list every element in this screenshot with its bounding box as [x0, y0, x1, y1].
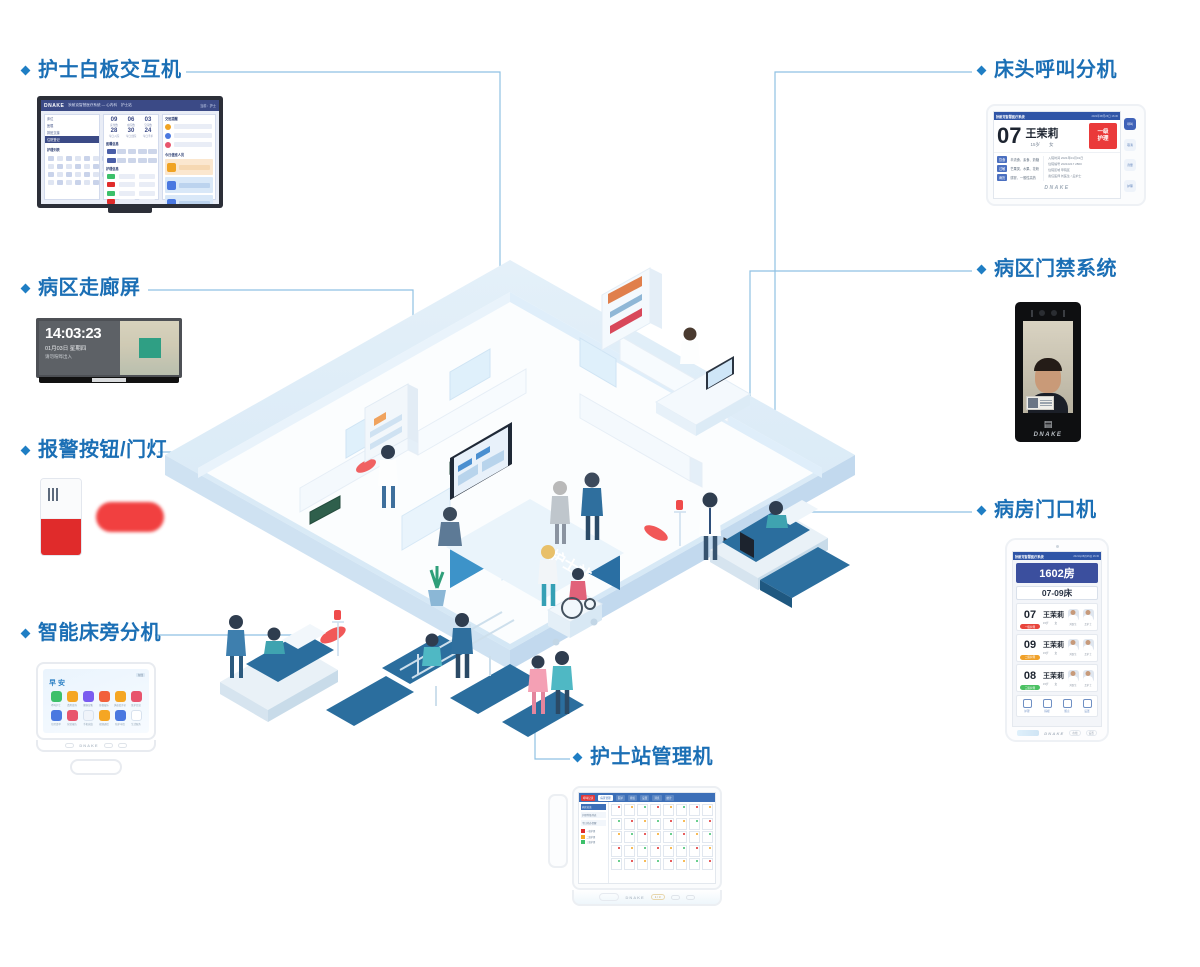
- nsm-tab[interactable]: 统计: [665, 795, 674, 801]
- patient-bed: 09: [1024, 639, 1036, 651]
- bedside-app-label: 化验报告: [65, 722, 79, 726]
- nsm-tab-selected[interactable]: 病区管理: [598, 795, 612, 801]
- bedhead-screen[interactable]: 狄耐克智慧医疗系统 2021年08月26日 16:30 07 王茉莉 15岁 女…: [993, 111, 1121, 199]
- nsm-bed-cell[interactable]: [676, 804, 687, 816]
- monitor-stand: [108, 208, 152, 213]
- corridor-video-feed: [120, 321, 179, 375]
- nsm-bed-cell[interactable]: [624, 804, 635, 816]
- bedhead-tag: 过敏芒果类、水果、花粉: [997, 165, 1039, 172]
- patient-row[interactable]: 07 一级护理 王茉莉 15岁 女 刘医生 孟护士: [1016, 603, 1098, 631]
- bullet-diamond-icon: [977, 505, 987, 515]
- legend-label: 三级护理: [587, 840, 596, 844]
- whiteboard-subtitle: 护士站: [121, 103, 132, 108]
- bedside-app-label: 健康宣教: [81, 703, 95, 707]
- bedhead-side-button[interactable]: 护理: [1124, 180, 1136, 192]
- callout-alarm-button-door-light: 报警按钮/门灯: [22, 440, 167, 460]
- bullet-diamond-icon: [573, 752, 583, 762]
- panel-title: 交班提醒: [163, 115, 215, 122]
- patient-care-tag: 一级护理: [1020, 624, 1040, 629]
- stat-label: 今日入院: [106, 134, 122, 138]
- access-terminal[interactable]: ▤ DNAKE: [1015, 302, 1081, 442]
- nsm-bed-cell[interactable]: [689, 845, 700, 857]
- bedhead-tag: 饮食半流食、素食、奶糖: [997, 156, 1039, 163]
- corridor-notice: 请勿喧哗出入: [45, 354, 114, 360]
- staff-avatars: 刘医生 孟护士: [1067, 609, 1094, 626]
- callout-label: 智能床旁分机: [38, 623, 161, 643]
- stat-label: 今日出院: [123, 134, 139, 138]
- id-card-thumbnail: [1026, 396, 1054, 410]
- doctor-name: 刘医生: [1067, 622, 1079, 626]
- bedside-app-label: 呼叫护士: [49, 703, 63, 707]
- bedhead-header: 狄耐克智慧医疗系统 2021年08月26日 16:30: [994, 112, 1120, 120]
- brand-label: DNAKE: [994, 185, 1120, 191]
- bedside-app-label: 医护信息: [129, 703, 143, 707]
- nsm-bed-cell[interactable]: [689, 818, 700, 830]
- header-title: 狄耐克智慧医疗系统: [1015, 554, 1044, 559]
- bedside-app[interactable]: 陪护申请: [113, 710, 127, 726]
- isometric-hospital-ward-illustration: 护士站: [150, 250, 870, 810]
- bedside-app[interactable]: 满意度评价: [113, 691, 127, 707]
- nsm-bed-cell[interactable]: [637, 818, 648, 830]
- door-machine-unit: 狄耐克智慧医疗系统 2021年08月26日 16:30 1602房 07-09床…: [1005, 538, 1109, 742]
- header-time: 2021年08月26日 16:30: [1073, 554, 1099, 558]
- nsm-bed-cell[interactable]: [676, 831, 687, 843]
- message-icon: [1063, 699, 1072, 708]
- callout-smart-bedside-extension: 智能床旁分机: [22, 623, 161, 643]
- whiteboard-stats-panel: 09床位数 06在院数 03空床数 28今日入院 30今日出院 24今日手术 医…: [103, 114, 159, 200]
- bedhead-tag: 病历感冒、一般性高热: [997, 174, 1039, 181]
- nsm-tab[interactable]: 医护: [616, 795, 625, 801]
- panel-title: 医嘱信息: [104, 140, 158, 147]
- bedhead-patient-meta: 15岁 女: [1025, 142, 1058, 148]
- nsm-bed-cell[interactable]: [624, 845, 635, 857]
- room-number: 1602房: [1016, 563, 1098, 583]
- bedside-app-label: 住院清单: [49, 722, 63, 726]
- door-machine-screen[interactable]: 狄耐克智慧医疗系统 2021年08月26日 16:30 1602房 07-09床…: [1012, 551, 1102, 727]
- bedside-app-label: 影视娱乐: [97, 703, 111, 707]
- nsm-bed-cell[interactable]: [650, 845, 661, 857]
- footer-chip[interactable]: 在线: [1069, 730, 1080, 736]
- patient-care-tag: 三级护理: [1020, 685, 1040, 690]
- doctor-name: 刘医生: [1067, 652, 1079, 656]
- whiteboard-right-panel: 交班提醒 今日值班人员: [162, 114, 216, 200]
- nsm-bed-cell[interactable]: [676, 845, 687, 857]
- nsm-bed-cell[interactable]: [702, 804, 713, 816]
- bedside-button[interactable]: [65, 743, 74, 748]
- infographic-canvas: 护士站: [0, 0, 1200, 967]
- bullet-diamond-icon: [21, 445, 31, 455]
- nsm-main: 病房总览 护理等级列表 今日待办提醒 一级护理 二级护理 三级护理: [579, 802, 715, 883]
- patient-bed: 07: [1024, 609, 1036, 621]
- nsm-bed-cell[interactable]: [611, 804, 622, 816]
- whiteboard-monitor-bezel: DNAKE 狄耐克智慧医疗系统 — 心内科 护士站 当前：护士 床位 医嘱 排班…: [37, 96, 223, 208]
- device-nurse-station-manager[interactable]: 呼叫记录 病区管理 医护 排班 设置 消息 统计 病房总览 护理等级列表 今日待…: [572, 786, 722, 906]
- nsm-bed-cell[interactable]: [611, 858, 622, 870]
- bedhead-admission-info: 入院时间 2021年01月01日 住院编号 20210217 2860 住院区域…: [1043, 156, 1083, 181]
- nsm-tab[interactable]: 消息: [652, 795, 661, 801]
- bedhead-side-button[interactable]: 取消: [1124, 139, 1136, 151]
- patient-meta: 15岁 女: [1043, 621, 1064, 625]
- device-smart-bedside-extension[interactable]: 在线 早 安 呼叫护士 费用查询 健康宣教 影视娱乐 满意度评价 医护信息 住院…: [36, 662, 156, 775]
- nsm-bed-cell[interactable]: [663, 831, 674, 843]
- bedside-button[interactable]: [104, 743, 113, 748]
- patient-meta: 15岁 女: [1043, 651, 1064, 655]
- patient-row[interactable]: 08 三级护理 王茉莉 15岁 女 刘医生 孟护士: [1016, 664, 1098, 692]
- patient-age: 15岁: [1043, 651, 1048, 655]
- nsm-tabbar[interactable]: 呼叫记录 病区管理 医护 排班 设置 消息 统计: [579, 793, 715, 802]
- bedside-app[interactable]: 视频通话: [97, 710, 111, 726]
- callout-room-door-machine: 病房门口机: [978, 500, 1097, 520]
- whiteboard-mini-grid: [45, 153, 99, 188]
- bedside-app[interactable]: 手机充值: [81, 710, 95, 726]
- door-machine-toolbar[interactable]: 护理 探视 留言 设置: [1016, 695, 1098, 717]
- bedside-button[interactable]: [118, 743, 127, 748]
- nsm-bed-cell[interactable]: [624, 818, 635, 830]
- door-light-indicator: [96, 502, 164, 532]
- device-ward-access-control[interactable]: ▤ DNAKE: [1015, 302, 1081, 442]
- speaker-grille-icon: [48, 488, 58, 501]
- whiteboard-body: 床位 医嘱 排班交接 住院登记 护理列表: [41, 111, 219, 203]
- bedhead-header-title: 狄耐克智慧医疗系统: [996, 114, 1025, 119]
- nsm-bed-cell[interactable]: [650, 804, 661, 816]
- patient-row[interactable]: 09 二级护理 王茉莉 15岁 女 刘医生 孟护士: [1016, 634, 1098, 662]
- nsm-wrap: 呼叫记录 病区管理 医护 排班 设置 消息 统计 病房总览 护理等级列表 今日待…: [572, 786, 722, 906]
- nsm-side-item[interactable]: 病房总览: [581, 804, 606, 810]
- nsm-keypad-icon[interactable]: [599, 893, 619, 901]
- tag-value: 半流食、素食、奶糖: [1010, 157, 1039, 162]
- alarm-reset-area[interactable]: [41, 479, 81, 519]
- nsm-side-item[interactable]: 今日待办提醒: [581, 820, 606, 826]
- nsm-bed-cell[interactable]: [676, 858, 687, 870]
- nsm-bed-cell[interactable]: [663, 858, 674, 870]
- bedhead-patient-summary: 07 王茉莉 15岁 女 一级护理: [994, 120, 1120, 153]
- callout-nurse-station-manager: 护士站管理机: [574, 747, 713, 767]
- nsm-bed-cell[interactable]: [637, 858, 648, 870]
- staff-avatars: 刘医生 孟护士: [1067, 639, 1094, 656]
- bedhead-side-button[interactable]: 呼叫: [1124, 118, 1136, 130]
- patient-gender: 女: [1054, 621, 1057, 625]
- info-line: 住院区域 甲院区: [1048, 168, 1083, 172]
- toolbar-label: 探视: [1037, 709, 1057, 713]
- corridor-hallway-graphic: [139, 338, 161, 358]
- nsm-bed-cell[interactable]: [689, 804, 700, 816]
- nsm-bed-cell[interactable]: [637, 845, 648, 857]
- patient-meta: 15岁 女: [1043, 682, 1064, 686]
- tag-key: 饮食: [997, 156, 1007, 163]
- nsm-bed-cell[interactable]: [611, 818, 622, 830]
- stat-label: 在院数: [123, 123, 139, 127]
- nsm-page-label: 1 / 3: [651, 894, 665, 900]
- whiteboard-title: 狄耐克智慧医疗系统 — 心内科: [68, 103, 117, 108]
- bedhead-side-button[interactable]: 音量: [1124, 159, 1136, 171]
- patient-name: 王茉莉: [1043, 610, 1064, 620]
- info-line: 住院编号 20210217 2860: [1048, 162, 1083, 166]
- avatar-nurse: 孟护士: [1082, 639, 1094, 656]
- whiteboard-sidebar[interactable]: 床位 医嘱 排班交接 住院登记 护理列表: [44, 114, 100, 200]
- device-bedhead-call-extension[interactable]: 狄耐克智慧医疗系统 2021年08月26日 16:30 07 王茉莉 15岁 女…: [986, 104, 1146, 206]
- bedside-app-label: 陪护申请: [113, 722, 127, 726]
- tag-value: 芒果类、水果、花粉: [1010, 166, 1039, 171]
- toolbar-label: 设置: [1077, 709, 1097, 713]
- bedhead-side-buttons[interactable]: 呼叫 取消 音量 护理: [1121, 111, 1139, 199]
- avatar-doctor: 刘医生: [1067, 670, 1079, 687]
- brand-label: DNAKE: [625, 895, 644, 900]
- id-text-lines: [1040, 398, 1052, 408]
- corridor-screen-display[interactable]: 14:03:23 01月03日 星期四 请勿喧哗出入: [39, 321, 179, 375]
- bedside-greeting: 早 安: [49, 678, 145, 688]
- nsm-tab[interactable]: 设置: [640, 795, 649, 801]
- stat-label: 今日手术: [140, 134, 156, 138]
- bedhead-patient-gender: 女: [1049, 142, 1054, 148]
- bedside-app-label: 费用查询: [65, 703, 79, 707]
- tag-key: 过敏: [997, 165, 1007, 172]
- stat-label: 床位数: [106, 123, 122, 127]
- bedside-app[interactable]: 生活服务: [129, 710, 143, 726]
- bedside-app[interactable]: 化验报告: [65, 710, 79, 726]
- door-machine-footer: DNAKE 在线 设置: [1012, 727, 1102, 739]
- brand-label: DNAKE: [79, 743, 98, 748]
- bedside-status-chip: 在线: [136, 673, 145, 677]
- doctor-name: 刘医生: [1067, 683, 1079, 687]
- bedhead-unit: 狄耐克智慧医疗系统 2021年08月26日 16:30 07 王茉莉 15岁 女…: [986, 104, 1146, 206]
- nsm-sidebar[interactable]: 病房总览 护理等级列表 今日待办提醒 一级护理 二级护理 三级护理: [579, 802, 609, 883]
- bedhead-tag-list: 饮食半流食、素食、奶糖 过敏芒果类、水果、花粉 病历感冒、一般性高热: [997, 156, 1039, 181]
- nsm-bed-cell[interactable]: [611, 845, 622, 857]
- bedhead-bed-number: 07: [997, 125, 1021, 147]
- corridor-clock: 14:03:23: [45, 326, 114, 341]
- toolbar-item[interactable]: 探视: [1037, 699, 1057, 713]
- callout-label: 护士站管理机: [590, 747, 713, 767]
- avatar-doctor: 刘医生: [1067, 639, 1079, 656]
- whiteboard-header: DNAKE 狄耐克智慧医疗系统 — 心内科 护士站 当前：护士: [41, 100, 219, 111]
- patient-age: 15岁: [1043, 682, 1048, 686]
- sidebar-item[interactable]: 医嘱: [45, 122, 99, 129]
- sidebar-item[interactable]: 排班交接: [45, 129, 99, 136]
- bedside-app[interactable]: 健康宣教: [81, 691, 95, 707]
- toolbar-item[interactable]: 设置: [1077, 699, 1097, 713]
- face-recognition-preview: [1023, 321, 1073, 413]
- gear-icon: [1083, 699, 1092, 708]
- corridor-info-panel: 14:03:23 01月03日 星期四 请勿喧哗出入: [39, 321, 120, 375]
- bullet-diamond-icon: [21, 628, 31, 638]
- nsm-bed-cell[interactable]: [650, 831, 661, 843]
- nsm-bed-cell[interactable]: [663, 804, 674, 816]
- bedside-app[interactable]: 医护信息: [129, 691, 143, 707]
- bedside-app-label: 满意度评价: [113, 703, 127, 707]
- avatar-nurse: 孟护士: [1082, 670, 1094, 687]
- nsm-button[interactable]: [686, 895, 695, 900]
- nsm-bed-cell[interactable]: [650, 818, 661, 830]
- bedside-wall-handle: [70, 759, 122, 775]
- bedside-app[interactable]: 费用查询: [65, 691, 79, 707]
- panel-title: 护理信息: [104, 165, 158, 172]
- bullet-diamond-icon: [21, 65, 31, 75]
- nsm-screen[interactable]: 呼叫记录 病区管理 医护 排班 设置 消息 统计 病房总览 护理等级列表 今日待…: [578, 792, 716, 884]
- patient-bed: 08: [1024, 670, 1036, 682]
- callout-label: 病房门口机: [994, 500, 1097, 520]
- alarm-call-button[interactable]: [40, 478, 82, 556]
- card-swipe-icon: ▤: [1020, 419, 1076, 430]
- door-machine-header: 狄耐克智慧医疗系统 2021年08月26日 16:30: [1013, 552, 1101, 560]
- info-line: 责任医师 刘医生 / 孟护士: [1048, 174, 1083, 178]
- nurse-name: 孟护士: [1082, 652, 1094, 656]
- bed-range: 07-09床: [1016, 586, 1098, 600]
- nsm-body: 呼叫记录 病区管理 医护 排班 设置 消息 统计 病房总览 护理等级列表 今日待…: [572, 786, 722, 890]
- nsm-bed-cell[interactable]: [637, 804, 648, 816]
- bullet-diamond-icon: [977, 264, 987, 274]
- nsm-bed-cell[interactable]: [702, 818, 713, 830]
- callout-ward-corridor-screen: 病区走廊屏: [22, 278, 141, 298]
- patient-name: 王茉莉: [1043, 671, 1064, 681]
- legend-label: 一级护理: [587, 829, 596, 833]
- bedside-app-grid[interactable]: 呼叫护士 费用查询 健康宣教 影视娱乐 满意度评价 医护信息 住院清单 化验报告…: [47, 691, 145, 726]
- avatar-nurse: 孟护士: [1082, 609, 1094, 626]
- stat-label: 空床数: [140, 123, 156, 127]
- bedside-base-panel: DNAKE: [36, 740, 156, 752]
- person-hair: [1034, 358, 1062, 371]
- nsm-bed-cell[interactable]: [624, 858, 635, 870]
- bedside-screen[interactable]: 在线 早 安 呼叫护士 费用查询 健康宣教 影视娱乐 满意度评价 医护信息 住院…: [43, 669, 149, 733]
- corridor-screen-stand: [92, 378, 126, 382]
- callout-label: 床头呼叫分机: [994, 60, 1117, 80]
- callout-nurse-whiteboard: 护士白板交互机: [22, 60, 182, 80]
- nsm-bed-cell[interactable]: [624, 831, 635, 843]
- callout-label: 病区门禁系统: [994, 259, 1117, 279]
- brand-label: DNAKE: [1044, 731, 1064, 736]
- panel-title: 今日值班人员: [163, 151, 215, 158]
- bedhead-header-time: 2021年08月26日 16:30: [1091, 114, 1118, 118]
- bedside-app[interactable]: 住院清单: [49, 710, 63, 726]
- nsm-bed-cell[interactable]: [637, 831, 648, 843]
- nsm-bed-cell[interactable]: [650, 858, 661, 870]
- device-nurse-whiteboard[interactable]: DNAKE 狄耐克智慧医疗系统 — 心内科 护士站 当前：护士 床位 医嘱 排班…: [37, 96, 223, 213]
- whiteboard-header-right: 当前：护士: [200, 103, 216, 108]
- nsm-bed-cell[interactable]: [702, 858, 713, 870]
- alarm-group: [40, 478, 164, 556]
- visit-icon: [1043, 699, 1052, 708]
- toolbar-label: 护理: [1017, 709, 1037, 713]
- nsm-legend: 一级护理 二级护理 三级护理: [581, 829, 606, 844]
- corridor-screen-bezel: 14:03:23 01月03日 星期四 请勿喧哗出入: [36, 318, 182, 378]
- callout-label: 报警按钮/门灯: [38, 440, 167, 460]
- nsm-bed-cell[interactable]: [676, 818, 687, 830]
- nsm-bed-cell[interactable]: [611, 831, 622, 843]
- whiteboard-list-title: 护理列表: [45, 146, 99, 153]
- bullet-diamond-icon: [21, 283, 31, 293]
- info-line: 入院时间 2021年01月01日: [1048, 156, 1083, 160]
- bedside-app[interactable]: 影视娱乐: [97, 691, 111, 707]
- bedhead-patient-block: 王茉莉 15岁 女: [1025, 125, 1058, 148]
- bedside-app[interactable]: 呼叫护士: [49, 691, 63, 707]
- nsm-bed-grid[interactable]: [609, 802, 715, 883]
- device-alarm-button-door-light[interactable]: [40, 478, 164, 556]
- callout-label: 病区走廊屏: [38, 278, 141, 298]
- nsm-alert-tab[interactable]: 呼叫记录: [581, 795, 595, 801]
- alarm-press-area[interactable]: [41, 519, 81, 556]
- callout-bedhead-call-extension: 床头呼叫分机: [978, 60, 1117, 80]
- tag-value: 感冒、一般性高热: [1010, 175, 1036, 180]
- id-photo: [1028, 398, 1038, 408]
- legend-label: 二级护理: [587, 835, 596, 839]
- toolbar-item[interactable]: 留言: [1057, 699, 1077, 713]
- device-room-door-machine[interactable]: 狄耐克智慧医疗系统 2021年08月26日 16:30 1602房 07-09床…: [1005, 538, 1109, 742]
- nsm-base-panel: DNAKE 1 / 3: [572, 890, 722, 906]
- nsm-bed-cell[interactable]: [663, 818, 674, 830]
- device-ward-corridor-screen[interactable]: 14:03:23 01月03日 星期四 请勿喧哗出入: [36, 318, 182, 382]
- bedside-app-label: 手机充值: [81, 722, 95, 726]
- toolbar-label: 留言: [1057, 709, 1077, 713]
- nurse-name: 孟护士: [1082, 622, 1094, 626]
- bedside-statusbar: 在线: [47, 673, 145, 677]
- corridor-date: 01月03日 星期四: [45, 344, 114, 352]
- patient-gender: 女: [1054, 651, 1057, 655]
- sidebar-item[interactable]: 床位: [45, 115, 99, 122]
- sidebar-item-selected[interactable]: 住院登记: [45, 136, 99, 143]
- bedside-frame: 在线 早 安 呼叫护士 费用查询 健康宣教 影视娱乐 满意度评价 医护信息 住院…: [36, 662, 156, 740]
- whiteboard-screen[interactable]: DNAKE 狄耐克智慧医疗系统 — 心内科 护士站 当前：护士 床位 医嘱 排班…: [41, 100, 219, 204]
- tag-key: 病历: [997, 174, 1007, 181]
- nsm-bed-cell[interactable]: [702, 845, 713, 857]
- nsm-button[interactable]: [671, 895, 680, 900]
- bedhead-care-level-badge: 一级护理: [1089, 123, 1117, 149]
- nurse-name: 孟护士: [1082, 683, 1094, 687]
- patient-gender: 女: [1054, 682, 1057, 686]
- nsm-bed-cell[interactable]: [689, 858, 700, 870]
- telephone-handset-icon[interactable]: [548, 794, 568, 868]
- brand-label: DNAKE: [1020, 432, 1076, 438]
- bedhead-patient-age: 15岁: [1030, 142, 1040, 148]
- patient-name: 王茉莉: [1043, 640, 1064, 650]
- bullet-diamond-icon: [977, 65, 987, 75]
- nsm-bed-cell[interactable]: [663, 845, 674, 857]
- care-icon: [1023, 699, 1032, 708]
- avatar-doctor: 刘医生: [1067, 609, 1079, 626]
- nsm-tab[interactable]: 排班: [628, 795, 637, 801]
- bedside-app-label: 生活服务: [129, 722, 143, 726]
- brand-label: DNAKE: [44, 103, 64, 109]
- nsm-side-item[interactable]: 护理等级列表: [581, 812, 606, 818]
- bedhead-detail-rows: 饮食半流食、素食、奶糖 过敏芒果类、水果、花粉 病历感冒、一般性高热 入院时间 …: [994, 153, 1120, 184]
- speaker-grille-icon: [1017, 730, 1039, 736]
- nsm-bed-cell[interactable]: [689, 831, 700, 843]
- footer-chip[interactable]: 设置: [1086, 730, 1097, 736]
- toolbar-item[interactable]: 护理: [1017, 699, 1037, 713]
- camera-dot-icon: [1056, 545, 1059, 548]
- nsm-bed-cell[interactable]: [702, 831, 713, 843]
- bedside-app-label: 视频通话: [97, 722, 111, 726]
- sensor-row: [1020, 307, 1076, 319]
- callout-ward-access-control: 病区门禁系统: [978, 259, 1117, 279]
- patient-age: 15岁: [1043, 621, 1048, 625]
- staff-avatars: 刘医生 孟护士: [1067, 670, 1094, 687]
- callout-label: 护士白板交互机: [38, 60, 182, 80]
- bedhead-patient-name: 王茉莉: [1025, 125, 1058, 141]
- patient-care-tag: 二级护理: [1020, 655, 1040, 660]
